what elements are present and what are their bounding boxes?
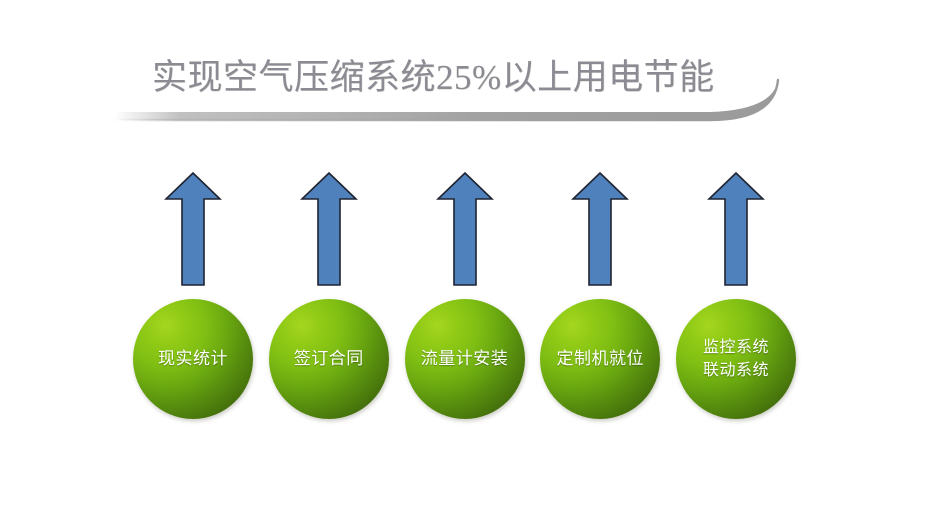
arrow-cell-3 bbox=[405, 170, 525, 290]
step-label-2: 签订合同 bbox=[290, 348, 368, 370]
arrow-cell-5 bbox=[676, 170, 796, 290]
step-label-4: 定制机就位 bbox=[553, 348, 649, 370]
step-circle-2[interactable]: 签订合同 bbox=[269, 299, 389, 419]
up-arrow-icon bbox=[164, 170, 222, 288]
arrow-cell-4 bbox=[540, 170, 660, 290]
step-circle-5[interactable]: 监控系统 联动系统 bbox=[676, 299, 796, 419]
up-arrow-icon bbox=[436, 170, 494, 288]
page-title: 实现空气压缩系统25%以上用电节能 bbox=[152, 48, 752, 108]
up-arrow-icon bbox=[300, 170, 358, 288]
arrow-cell-1 bbox=[133, 170, 253, 290]
title-banner: 实现空气压缩系统25%以上用电节能 bbox=[110, 34, 790, 144]
step-label-5: 监控系统 联动系统 bbox=[699, 336, 773, 382]
step-circle-1[interactable]: 现实统计 bbox=[133, 299, 253, 419]
step-circle-3[interactable]: 流量计安装 bbox=[405, 299, 525, 419]
up-arrow-icon bbox=[707, 170, 765, 288]
up-arrow-icon bbox=[571, 170, 629, 288]
step-label-1: 现实统计 bbox=[154, 348, 232, 370]
step-label-3: 流量计安装 bbox=[417, 348, 513, 370]
step-circle-row: 现实统计 签订合同 流量计安装 定制机就位 监控系统 联动系统 bbox=[133, 298, 796, 420]
step-circle-4[interactable]: 定制机就位 bbox=[540, 299, 660, 419]
arrow-cell-2 bbox=[269, 170, 389, 290]
arrow-row bbox=[133, 170, 796, 290]
slide-canvas: 实现空气压缩系统25%以上用电节能 bbox=[0, 0, 945, 529]
